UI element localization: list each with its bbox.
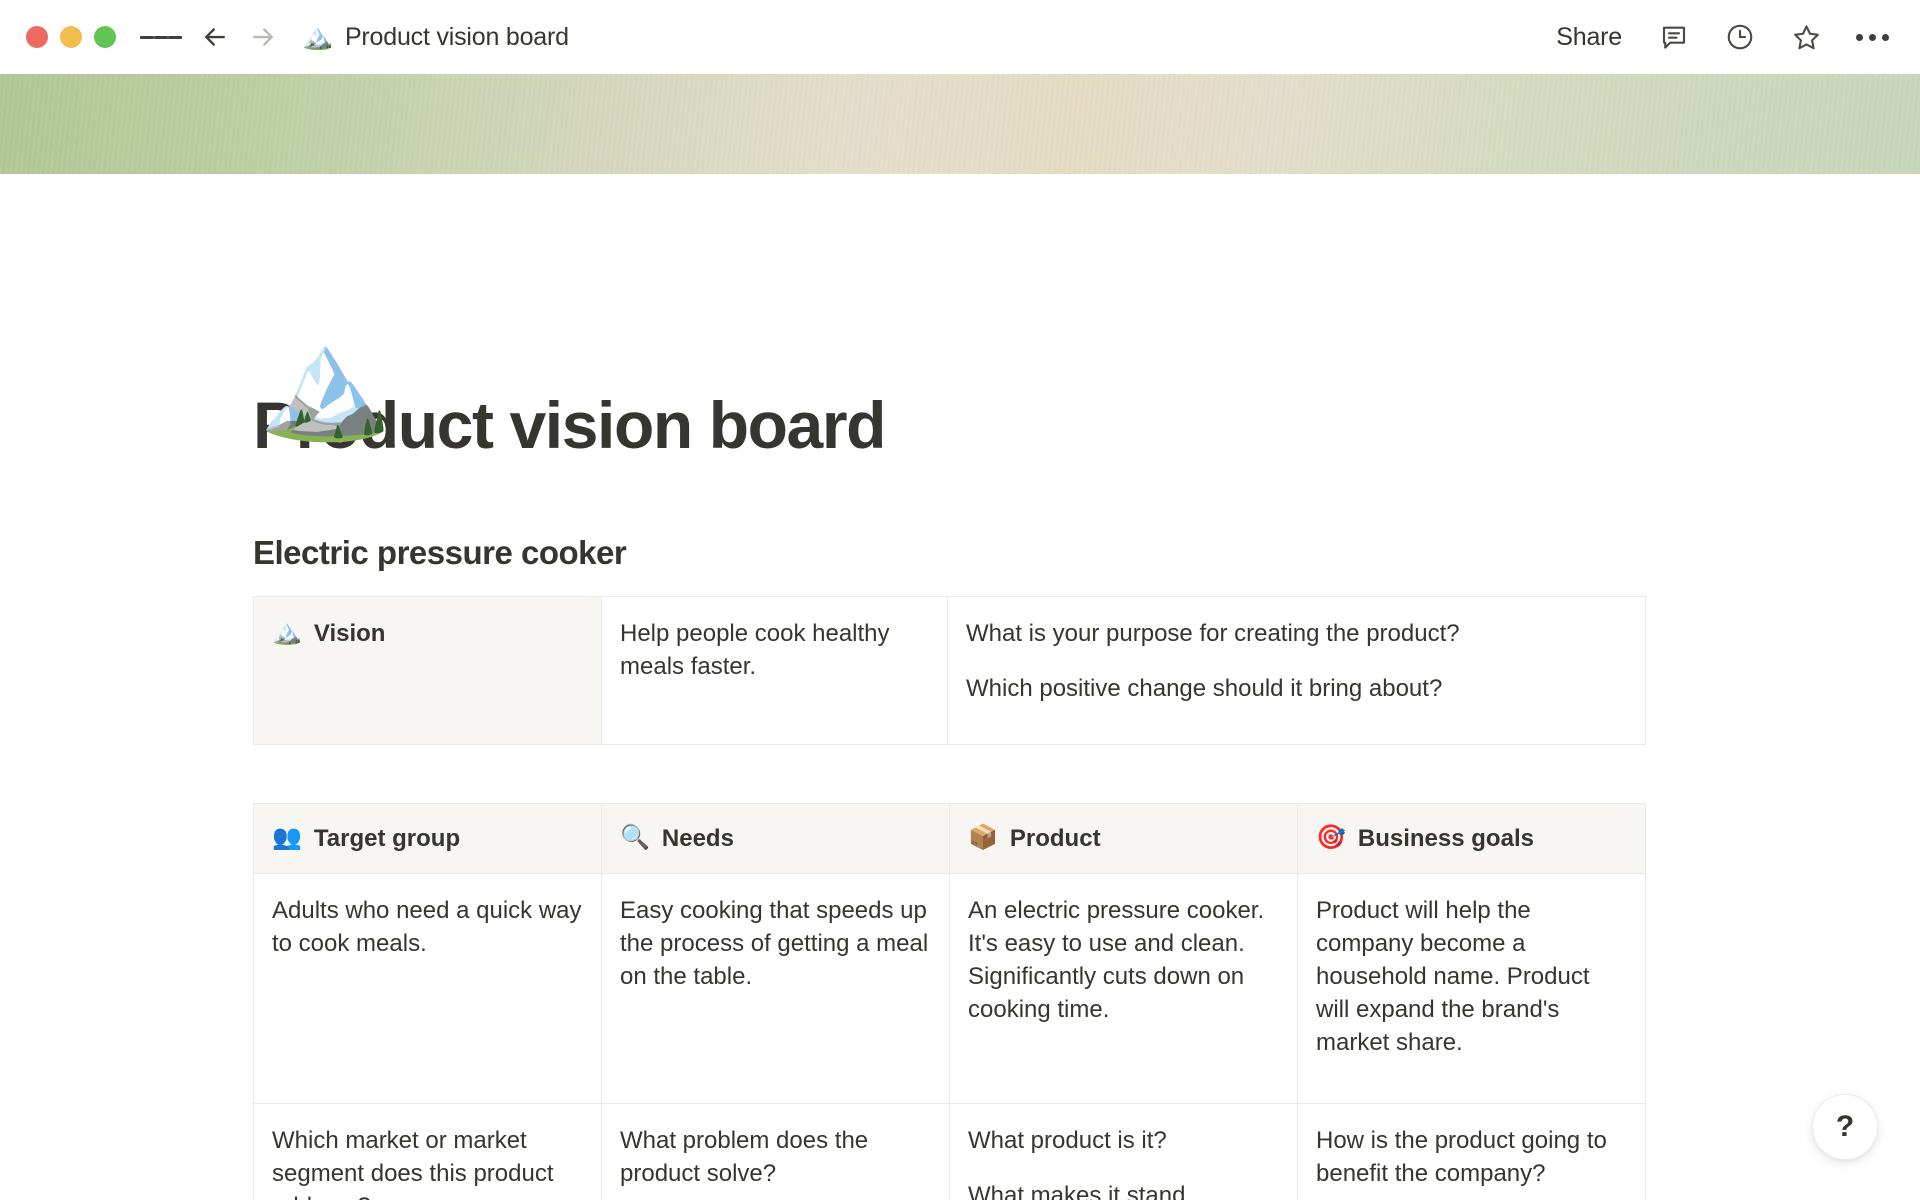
breadcrumb-page-title: Product vision board — [345, 23, 569, 52]
minimize-window-button[interactable] — [60, 26, 82, 48]
star-icon[interactable] — [1786, 17, 1826, 57]
table-row: Adults who need a quick way to cook meal… — [254, 873, 1646, 1103]
page-icon[interactable]: 🏔️ — [258, 329, 392, 437]
comment-icon[interactable] — [1654, 17, 1694, 57]
people-icon: 👥 — [272, 826, 302, 850]
magnifier-icon: 🔍 — [620, 826, 650, 850]
mountain-icon: 🏔️ — [272, 621, 302, 645]
page-title[interactable]: Product vision board — [253, 389, 1880, 462]
hint-text: What problem does the product solve? — [620, 1124, 931, 1190]
column-header-label: Product — [1010, 822, 1101, 855]
arrow-right-icon[interactable] — [242, 16, 284, 58]
hint-text: What makes it stand — [968, 1179, 1279, 1200]
vision-hint-cell[interactable]: What is your purpose for creating the pr… — [948, 596, 1646, 744]
table-row: 🏔️ Vision Help people cook healthy meals… — [254, 596, 1646, 744]
window-titlebar: 🏔️ Product vision board Share — [0, 0, 1920, 74]
help-button[interactable]: ? — [1812, 1094, 1878, 1160]
column-header-label: Business goals — [1358, 822, 1534, 855]
hint-text: How is the product going to benefit the … — [1316, 1124, 1627, 1190]
vision-header-label: Vision — [314, 617, 386, 650]
breadcrumb[interactable]: 🏔️ Product vision board — [302, 23, 569, 52]
breadcrumb-page-icon: 🏔️ — [302, 25, 333, 50]
vision-board-quad-table: 👥 Target group 🔍 Needs 📦 Product — [253, 803, 1646, 1200]
maximize-window-button[interactable] — [94, 26, 116, 48]
table-row: Which market or market segment does this… — [254, 1103, 1646, 1200]
clock-history-icon[interactable] — [1720, 17, 1760, 57]
cell-business-goals-value[interactable]: Product will help the company become a h… — [1298, 873, 1646, 1103]
cell-target-group-value[interactable]: Adults who need a quick way to cook meal… — [254, 873, 602, 1103]
hint-text: Which market or market segment does this… — [272, 1124, 583, 1200]
vision-header-cell[interactable]: 🏔️ Vision — [254, 596, 602, 744]
package-icon: 📦 — [968, 826, 998, 850]
hamburger-menu-icon[interactable] — [140, 16, 182, 58]
arrow-left-icon[interactable] — [194, 16, 236, 58]
column-header-target-group[interactable]: 👥 Target group — [254, 803, 602, 873]
cell-needs-value[interactable]: Easy cooking that speeds up the process … — [602, 873, 950, 1103]
cell-target-group-hint[interactable]: Which market or market segment does this… — [254, 1103, 602, 1200]
column-header-label: Needs — [662, 822, 734, 855]
vision-value-cell[interactable]: Help people cook healthy meals faster. — [602, 596, 948, 744]
titlebar-actions: Share — [1550, 17, 1892, 57]
table-header-row: 👥 Target group 🔍 Needs 📦 Product — [254, 803, 1646, 873]
vision-hint-2: Which positive change should it bring ab… — [966, 672, 1627, 705]
page-subtitle[interactable]: Electric pressure cooker — [253, 534, 1880, 572]
column-header-needs[interactable]: 🔍 Needs — [602, 803, 950, 873]
navigation-arrows — [194, 16, 284, 58]
close-window-button[interactable] — [26, 26, 48, 48]
column-header-label: Target group — [314, 822, 460, 855]
target-icon: 🎯 — [1316, 826, 1346, 850]
page-cover-image[interactable] — [0, 74, 1920, 174]
cell-product-hint[interactable]: What product is it? What makes it stand — [950, 1103, 1298, 1200]
vision-table: 🏔️ Vision Help people cook healthy meals… — [253, 596, 1646, 745]
column-header-product[interactable]: 📦 Product — [950, 803, 1298, 873]
more-options-icon[interactable] — [1852, 17, 1892, 57]
page-content: 🏔️ Product vision board Electric pressur… — [0, 389, 1920, 1200]
traffic-lights — [26, 26, 116, 48]
cell-needs-hint[interactable]: What problem does the product solve? — [602, 1103, 950, 1200]
cell-product-value[interactable]: An electric pressure cooker. It's easy t… — [950, 873, 1298, 1103]
cell-business-goals-hint[interactable]: How is the product going to benefit the … — [1298, 1103, 1646, 1200]
vision-hint-1: What is your purpose for creating the pr… — [966, 617, 1627, 650]
column-header-business-goals[interactable]: 🎯 Business goals — [1298, 803, 1646, 873]
hint-text: What product is it? — [968, 1124, 1279, 1157]
share-button[interactable]: Share — [1550, 19, 1628, 56]
